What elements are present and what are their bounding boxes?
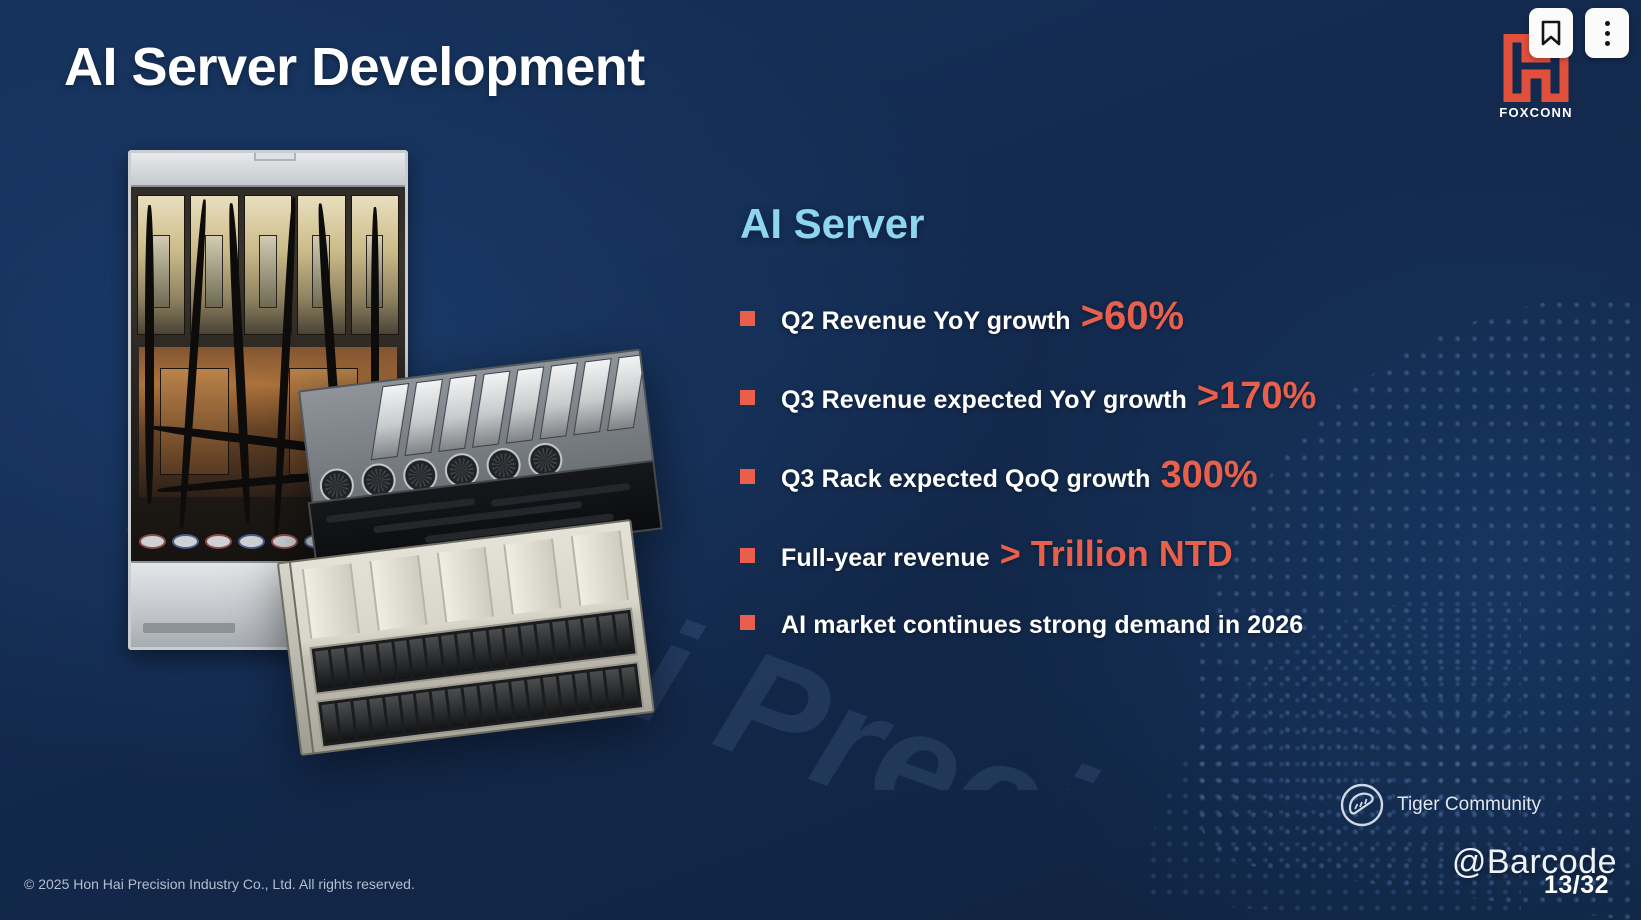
- tiger-community-badge: Tiger Community: [1339, 782, 1541, 828]
- copyright-footer: © 2025 Hon Hai Precision Industry Co., L…: [24, 876, 415, 892]
- overlay-button-group: [1529, 8, 1629, 58]
- bullet-label: Q3 Rack expected QoQ growth: [781, 465, 1150, 494]
- section-heading: AI Server: [740, 200, 1600, 248]
- tiger-community-label: Tiger Community: [1397, 794, 1541, 816]
- bookmark-button[interactable]: [1529, 8, 1573, 58]
- bullet-highlight: 300%: [1160, 454, 1257, 497]
- list-item: Q3 Revenue expected YoY growth >170%: [740, 375, 1600, 418]
- list-item: Q3 Rack expected QoQ growth 300%: [740, 454, 1600, 497]
- more-options-button[interactable]: [1585, 8, 1629, 58]
- slide-title: AI Server Development: [64, 36, 645, 98]
- product-photos: [110, 140, 680, 780]
- bullet-list: Q2 Revenue YoY growth >60% Q3 Revenue ex…: [740, 294, 1600, 640]
- page-number: 13/32: [1544, 871, 1609, 900]
- bullet-label: AI market continues strong demand in 202…: [781, 611, 1303, 640]
- slide-canvas: Hon Hai Precision AI Server Development …: [0, 0, 1641, 920]
- bullet-square-icon: [740, 469, 755, 484]
- bullet-square-icon: [740, 548, 755, 563]
- bookmark-icon: [1540, 20, 1562, 46]
- rack-top-panel: [131, 153, 405, 187]
- bullet-label: Q3 Revenue expected YoY growth: [781, 386, 1187, 415]
- bullet-highlight: >170%: [1197, 375, 1316, 418]
- bullet-highlight: > Trillion NTD: [1000, 533, 1233, 575]
- bullet-label: Full-year revenue: [781, 544, 990, 573]
- tiger-paw-icon: [1339, 782, 1385, 828]
- bullet-label: Q2 Revenue YoY growth: [781, 307, 1071, 336]
- list-item: AI market continues strong demand in 202…: [740, 611, 1600, 640]
- list-item: Full-year revenue > Trillion NTD: [740, 533, 1600, 575]
- bullet-square-icon: [740, 390, 755, 405]
- three-dots-icon: [1605, 21, 1610, 46]
- server-front-panel: [289, 519, 655, 755]
- bullet-square-icon: [740, 311, 755, 326]
- bullet-square-icon: [740, 615, 755, 630]
- content-column: AI Server Q2 Revenue YoY growth >60% Q3 …: [740, 200, 1600, 676]
- foxconn-wordmark: FOXCONN: [1493, 105, 1579, 120]
- list-item: Q2 Revenue YoY growth >60%: [740, 294, 1600, 339]
- bullet-highlight: >60%: [1081, 294, 1184, 339]
- gpu-server-photo: [268, 349, 687, 772]
